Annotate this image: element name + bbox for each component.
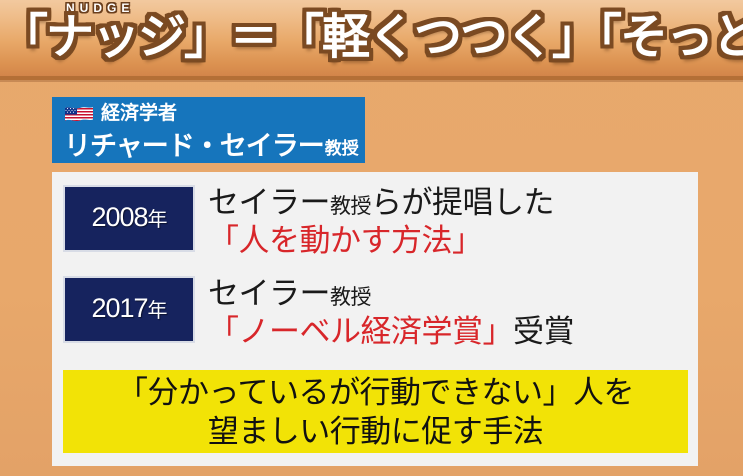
name-plate-occupation-row: 経済学者 xyxy=(64,101,355,127)
summary-line-1: 「分かっているが行動できない」人を xyxy=(117,373,634,412)
person-title: 教授 xyxy=(325,136,359,162)
timeline-headline: セイラー教授 xyxy=(208,276,698,315)
year-value: 2017 xyxy=(91,293,147,323)
year-label: 2017年 xyxy=(91,293,166,326)
person-name-plate: 経済学者 リチャード・セイラー 教授 xyxy=(52,97,365,163)
year-badge-2017: 2017年 xyxy=(63,276,195,343)
us-flag-icon xyxy=(64,105,94,124)
summary-band: 「分かっているが行動できない」人を 望ましい行動に促す手法 xyxy=(63,370,688,453)
summary-line-2: 望ましい行動に促す手法 xyxy=(208,412,544,451)
timeline-row: 2017年 セイラー教授 「ノーベル経済学賞」受賞 xyxy=(52,276,698,350)
person-name: リチャード・セイラー xyxy=(64,131,324,162)
content-panel: 2008年 セイラー教授らが提唱した 「人を動かす方法」 2017年 セイラー教… xyxy=(52,172,698,466)
timeline-headline: セイラー教授らが提唱した xyxy=(208,185,698,224)
timeline-text: セイラー教授 「ノーベル経済学賞」受賞 xyxy=(208,276,698,350)
person-occupation: 経済学者 xyxy=(101,103,177,125)
infographic-screen: NUDGE 「ナッジ」＝「軽くつつく」「そっと後押し」 xyxy=(0,0,743,476)
timeline-headline-small: 教授 xyxy=(330,195,371,218)
timeline-highlight: 「人を動かす方法」 xyxy=(208,223,698,259)
timeline-row: 2008年 セイラー教授らが提唱した 「人を動かす方法」 xyxy=(52,185,698,259)
timeline-highlight-red: 「ノーベル経済学賞」 xyxy=(208,314,513,349)
year-suffix: 年 xyxy=(148,300,167,322)
year-suffix: 年 xyxy=(148,209,167,231)
year-badge-2008: 2008年 xyxy=(63,185,195,252)
timeline-headline-main: セイラー xyxy=(208,276,330,311)
timeline-text: セイラー教授らが提唱した 「人を動かす方法」 xyxy=(208,185,698,259)
timeline-highlight-black: 受賞 xyxy=(513,314,574,349)
year-value: 2008 xyxy=(91,202,147,232)
timeline-headline-small: 教授 xyxy=(330,286,371,309)
timeline-highlight: 「ノーベル経済学賞」受賞 xyxy=(208,314,698,350)
timeline-headline-main: セイラー xyxy=(208,185,330,220)
title-banner-underline-secondary xyxy=(0,80,743,82)
name-plate-name-row: リチャード・セイラー 教授 xyxy=(64,128,355,162)
timeline-headline-rest: らが提唱した xyxy=(371,185,554,220)
page-title: 「ナッジ」＝「軽くつつく」「そっと後押し」 xyxy=(0,8,743,68)
year-label: 2008年 xyxy=(91,202,166,235)
